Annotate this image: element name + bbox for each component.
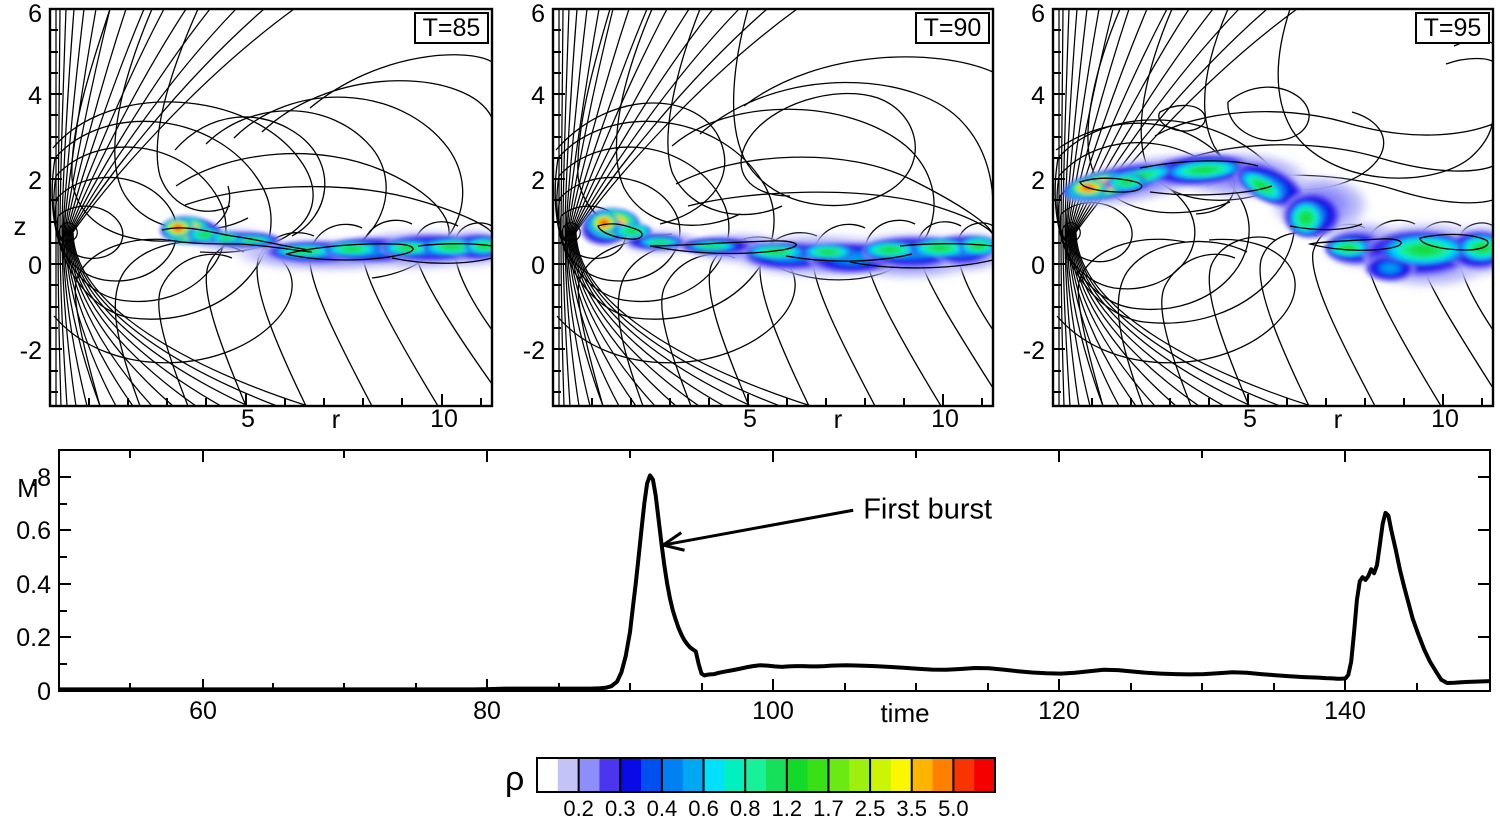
y-tick-label: -2 bbox=[1023, 337, 1045, 365]
colorbar-tick-label: 1.2 bbox=[772, 796, 803, 821]
colorbar-tick-label: 1.7 bbox=[813, 796, 844, 821]
colorbar-band bbox=[953, 758, 974, 792]
y-tick-label: 2 bbox=[531, 167, 545, 195]
ts-xlabel: time bbox=[880, 698, 929, 728]
ts-x-tick-label: 120 bbox=[1038, 697, 1080, 725]
y-tick-label: 4 bbox=[531, 82, 545, 110]
colorbar: ρ 0.20.30.40.60.81.21.72.53.55.0 bbox=[505, 758, 996, 821]
colorbar-band bbox=[683, 758, 704, 792]
ts-x-tick-label: 100 bbox=[752, 697, 794, 725]
ts-x-tick-label: 80 bbox=[473, 697, 501, 725]
colorbar-band bbox=[912, 758, 933, 792]
colorbar-tick-label: 0.4 bbox=[647, 796, 678, 821]
figure-svg: 6 4 2 0 -2 z 5 10 r T=85 bbox=[0, 0, 1500, 823]
ts-y-tick-label: 0.6 bbox=[16, 517, 51, 545]
y-tick-label: 0 bbox=[28, 252, 42, 280]
colorbar-bands bbox=[537, 758, 996, 792]
panel-ylabel: z bbox=[14, 211, 27, 241]
ts-x-tick-label: 140 bbox=[1324, 697, 1366, 725]
colorbar-band bbox=[745, 758, 766, 792]
x-tick-label: 10 bbox=[931, 405, 959, 433]
y-tick-label: 0 bbox=[1031, 252, 1045, 280]
colorbar-tick-label: 0.6 bbox=[688, 796, 719, 821]
colorbar-band bbox=[641, 758, 662, 792]
panel-tag-label: T=85 bbox=[423, 14, 481, 42]
panel-xlabel: r bbox=[1334, 404, 1343, 434]
colorbar-tick-label: 0.3 bbox=[605, 796, 636, 821]
colorbar-band bbox=[933, 758, 954, 792]
y-tick-label: 6 bbox=[531, 0, 545, 28]
colorbar-tick-label: 0.2 bbox=[563, 796, 594, 821]
y-tick-label: -2 bbox=[20, 337, 42, 365]
y-tick-label: 6 bbox=[1031, 0, 1045, 28]
panel-xlabel: r bbox=[834, 404, 843, 434]
x-tick-label: 5 bbox=[1243, 405, 1257, 433]
colorbar-band bbox=[766, 758, 787, 792]
colorbar-band bbox=[828, 758, 849, 792]
colorbar-band bbox=[787, 758, 808, 792]
panel-tag-label: T=95 bbox=[1424, 14, 1482, 42]
colorbar-tick-label: 3.5 bbox=[896, 796, 927, 821]
colorbar-tick-label: 2.5 bbox=[855, 796, 886, 821]
colorbar-band bbox=[724, 758, 745, 792]
ts-x-tick-label: 60 bbox=[189, 697, 217, 725]
colorbar-symbol: ρ bbox=[505, 760, 524, 798]
y-tick-label: 2 bbox=[28, 167, 42, 195]
y-tick-label: 0 bbox=[531, 252, 545, 280]
panel-tag-label: T=90 bbox=[924, 14, 982, 42]
x-tick-label: 5 bbox=[241, 405, 255, 433]
colorbar-band bbox=[620, 758, 641, 792]
colorbar-band bbox=[704, 758, 725, 792]
colorbar-tick-label: 0.8 bbox=[730, 796, 761, 821]
y-tick-label: 4 bbox=[28, 82, 42, 110]
x-tick-label: 5 bbox=[743, 405, 757, 433]
colorbar-band bbox=[870, 758, 891, 792]
x-tick-label: 10 bbox=[430, 405, 458, 433]
y-tick-label: 2 bbox=[1031, 167, 1045, 195]
panel-xlabel: r bbox=[332, 404, 341, 434]
annotation-label: First burst bbox=[863, 493, 992, 525]
colorbar-tick-label: 5.0 bbox=[938, 796, 969, 821]
y-tick-label: 4 bbox=[1031, 82, 1045, 110]
colorbar-band bbox=[537, 758, 558, 792]
ts-y-tick-label: 0 bbox=[37, 678, 51, 706]
figure-root: 6 4 2 0 -2 z 5 10 r T=85 bbox=[0, 0, 1500, 823]
x-tick-label: 10 bbox=[1431, 405, 1459, 433]
ts-ylabel: M bbox=[17, 473, 39, 503]
y-tick-label: 6 bbox=[28, 0, 42, 28]
panel-tag-box: T=90 bbox=[916, 13, 989, 43]
colorbar-band bbox=[808, 758, 829, 792]
colorbar-band bbox=[849, 758, 870, 792]
colorbar-band bbox=[891, 758, 912, 792]
ts-y-tick-label: 0.2 bbox=[16, 624, 51, 652]
colorbar-band bbox=[662, 758, 683, 792]
panel-tag-box: T=85 bbox=[415, 13, 488, 43]
colorbar-band bbox=[558, 758, 579, 792]
panel-tag-box: T=95 bbox=[1416, 13, 1489, 43]
y-tick-label: -2 bbox=[523, 337, 545, 365]
colorbar-band bbox=[974, 758, 995, 792]
colorbar-band bbox=[579, 758, 600, 792]
ts-y-tick-label: 0.4 bbox=[16, 571, 51, 599]
colorbar-band bbox=[599, 758, 620, 792]
